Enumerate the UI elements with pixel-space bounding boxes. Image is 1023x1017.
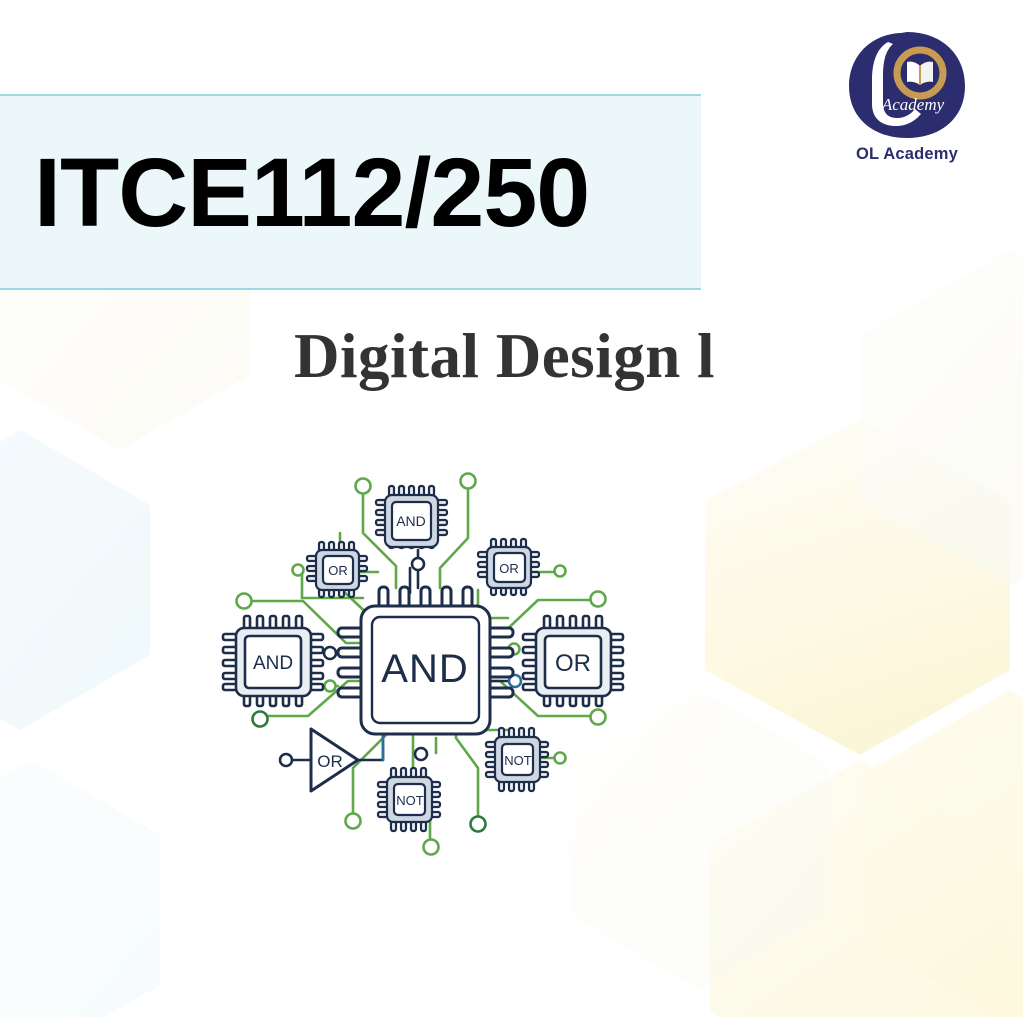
chip-top-and-label: AND [396,513,426,529]
course-cover-page: ITCE112/250 Digital Design l Academy OL … [0,0,1023,1017]
chip-left-and-label: AND [253,653,293,674]
open-book-icon [907,62,933,85]
chip-upleft-or-label: OR [328,563,348,578]
chip-upright-or-label: OR [499,561,519,576]
chip-botright-not-label: NOT [504,753,532,768]
logic-gate-circuit-illustration: AND [178,438,663,883]
gate-or-triangle-label: OR [317,752,343,771]
ol-academy-logo: Academy OL Academy [841,26,973,164]
course-code-text: ITCE112/250 [34,144,589,241]
course-code-banner: ITCE112/250 [0,94,701,290]
chip-center-and-label: AND [381,647,468,691]
chip-right-or-label: OR [555,650,591,677]
logo-inner-academy-text: Academy [881,95,945,114]
logo-wordmark-text: OL Academy [841,145,973,164]
ol-academy-logo-mark: Academy [841,26,973,144]
course-title-text: Digital Design l [0,320,1023,393]
chip-bottom-not-label: NOT [396,793,424,808]
